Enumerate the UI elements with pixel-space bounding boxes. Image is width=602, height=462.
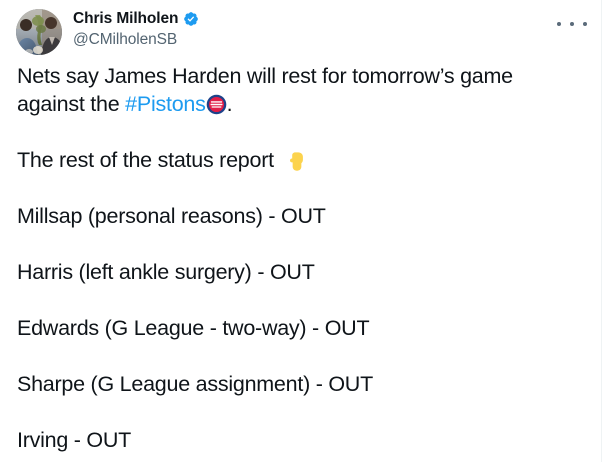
paragraph-spacer [17, 118, 585, 146]
author-handle[interactable]: @CMilholenSB [73, 31, 589, 49]
more-options-icon[interactable] [557, 14, 587, 34]
tweet-paragraph-status-report: The rest of the status report [17, 146, 585, 174]
paragraph-spacer [17, 174, 585, 202]
tweet-text: Nets say James Harden will rest for tomo… [0, 62, 601, 454]
status-row: Sharpe (G League assignment) - OUT [17, 370, 585, 398]
tweet-line-2-prefix: against the [17, 92, 125, 116]
status-row: Irving - OUT [17, 426, 585, 454]
author-name-row[interactable]: Chris Milholen [73, 9, 589, 29]
hashtag-pistons-link[interactable]: #Pistons [125, 92, 205, 116]
verified-badge-icon [183, 11, 199, 27]
more-dot [570, 22, 574, 26]
status-row: Millsap (personal reasons) - OUT [17, 202, 585, 230]
display-name[interactable]: Chris Milholen [73, 10, 178, 28]
tweet-card: Chris Milholen @CMilholenSB Nets say Jam… [0, 0, 602, 462]
paragraph-spacer [17, 230, 585, 258]
tweet-line-2-suffix: . [227, 92, 233, 116]
tweet-line-1: Nets say James Harden will rest for tomo… [17, 64, 513, 88]
pistons-logo-emoji [206, 94, 227, 115]
status-row: Edwards (G League - two-way) - OUT [17, 314, 585, 342]
paragraph-spacer [17, 342, 585, 370]
tweet-header: Chris Milholen @CMilholenSB [0, 0, 601, 62]
more-dot [557, 22, 561, 26]
more-dot [583, 22, 587, 26]
status-row: Harris (left ankle surgery) - OUT [17, 258, 585, 286]
author-identity: Chris Milholen @CMilholenSB [73, 9, 589, 49]
tweet-line-3: The rest of the status report [17, 148, 280, 172]
paragraph-spacer [17, 286, 585, 314]
tweet-paragraph-harden: Nets say James Harden will rest for tomo… [17, 62, 585, 118]
avatar[interactable] [16, 9, 62, 55]
paragraph-spacer [17, 398, 585, 426]
backhand-index-pointing-down-emoji [285, 150, 309, 174]
